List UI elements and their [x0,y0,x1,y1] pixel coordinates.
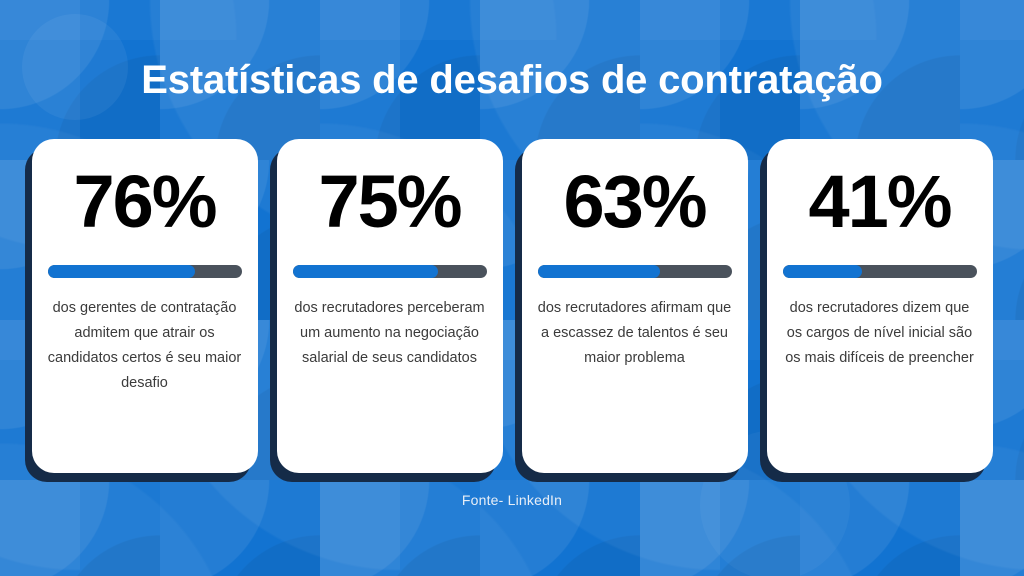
stat-description: dos recrutadores perceberam um aumento n… [291,296,489,371]
stat-value: 41% [808,163,950,241]
source-attribution: Fonte- LinkedIn [462,492,562,508]
stat-value: 75% [318,163,460,241]
progress-bar [783,265,977,278]
stat-value: 76% [73,163,215,241]
stat-description: dos recrutadores afirmam que a escassez … [536,296,734,371]
progress-bar [293,265,487,278]
stat-card: 75% dos recrutadores perceberam um aumen… [277,139,503,473]
progress-bar [538,265,732,278]
stat-description: dos gerentes de contratação admitem que … [46,296,244,396]
progress-bar-fill [293,265,439,278]
progress-bar-fill [783,265,863,278]
slide-content: Estatísticas de desafios de contratação … [0,0,1024,576]
stat-value: 63% [563,163,705,241]
progress-bar-fill [48,265,195,278]
stat-card: 76% dos gerentes de contratação admitem … [32,139,258,473]
infographic-slide: Estatísticas de desafios de contratação … [0,0,1024,576]
page-title: Estatísticas de desafios de contratação [141,58,882,102]
progress-bar-fill [538,265,660,278]
stat-card: 41% dos recrutadores dizem que os cargos… [767,139,993,473]
progress-bar [48,265,242,278]
stat-card-list: 76% dos gerentes de contratação admitem … [32,139,993,473]
stat-description: dos recrutadores dizem que os cargos de … [781,296,979,371]
stat-card: 63% dos recrutadores afirmam que a escas… [522,139,748,473]
